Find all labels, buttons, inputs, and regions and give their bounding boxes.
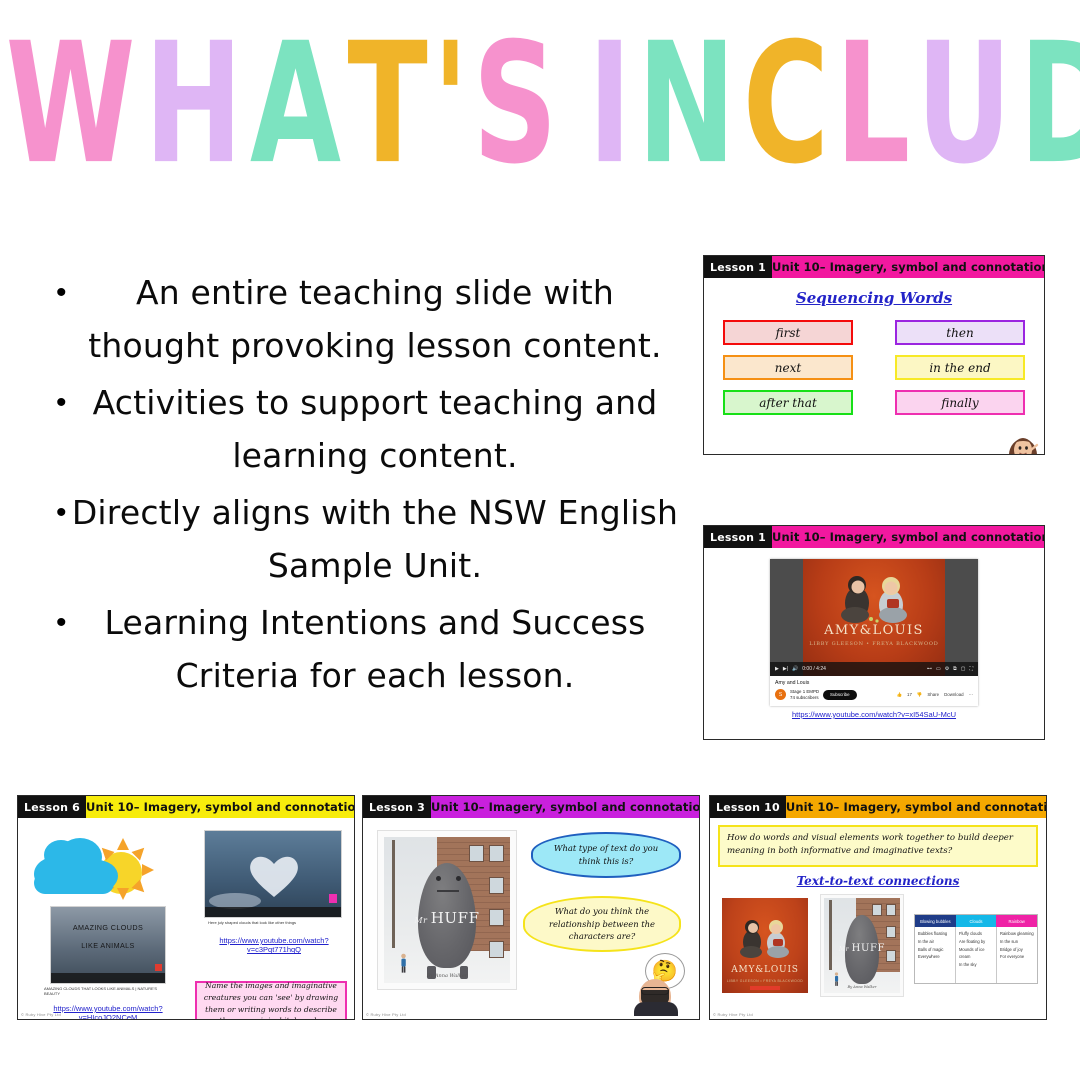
channel-subs: 74 subscribers [790, 695, 819, 701]
slide-watermark: © Ruby Hive Pty Ltd [366, 1012, 406, 1017]
slide-body: AMY&LOUIS LIBBY GLEESON • FREYA BLACKWOO… [704, 559, 1044, 740]
unit-title: Unit 10– Imagery, symbol and connotation [431, 796, 700, 818]
table-cell: For everyone [1000, 953, 1034, 961]
volume-icon[interactable]: 🔊 [792, 666, 798, 672]
video-time: 0:00 / 4:24 [802, 666, 826, 672]
feature-list-item-text: Directly aligns with the NSW English Sam… [68, 486, 682, 592]
channel-avatar: S [775, 689, 786, 700]
title-letter: L [835, 22, 909, 188]
table-cell: In the air [918, 938, 952, 946]
slide-watermark: © Ruby Hive Pty Ltd [713, 1012, 753, 1017]
subtitles-icon[interactable]: ▭ [936, 666, 941, 672]
book-cover-mr-huff-mini: Mr HUFF By Anna Walker [820, 894, 904, 997]
section-title: Text-to-text connections [710, 874, 1046, 888]
video-controls[interactable]: ▶ ▶| 🔊 0:00 / 4:24 ⊷ ▭ ⚙ ⧉ ▢ ⛶ [770, 662, 978, 676]
slide-header: Lesson 10 Unit 10– Imagery, symbol and c… [710, 796, 1046, 818]
youtube-embed[interactable]: AMY&LOUIS LIBBY GLEESON • FREYA BLACKWOO… [770, 559, 978, 706]
feature-list-item: •Learning Intentions and Success Criteri… [34, 596, 682, 702]
subscribe-button[interactable]: Subscribe [823, 690, 857, 700]
bullet-marker: • [34, 376, 68, 430]
slide-thumbnail-amy-and-louis-video[interactable]: Lesson 1 Unit 10– Imagery, symbol and co… [703, 525, 1045, 740]
title-letter: S [473, 22, 557, 188]
sequencing-word-chip[interactable]: first [723, 320, 853, 345]
play-icon[interactable]: ▶ [775, 666, 779, 672]
slide-body: Mr HUFF By Anna Walker What type of text… [363, 818, 699, 1019]
slide-body: AMAZING CLOUDS LIKE ANIMALS AMAZING CLOU… [18, 818, 354, 1019]
video-overlay-line-2: LIKE ANIMALS [51, 941, 165, 950]
unit-title: Unit 10– Imagery, symbol and connotation [772, 256, 1045, 278]
feature-list-item: •Directly aligns with the NSW English Sa… [34, 486, 682, 592]
slide-watermark: © Ruby Hive Pty Ltd [21, 1012, 61, 1017]
cover-title: Mr HUFF [824, 943, 900, 954]
feature-list-item: •An entire teaching slide with thought p… [34, 266, 682, 372]
dislike-icon[interactable]: 👎 [917, 692, 922, 698]
channel-info: Stage 1 EMPD 74 subscribers [790, 689, 819, 701]
title-letter: N [637, 22, 735, 188]
slide-header: Lesson 1 Unit 10– Imagery, symbol and co… [704, 526, 1044, 548]
download-button[interactable]: Download [944, 692, 964, 697]
title-letter: W [6, 22, 135, 188]
slide-body: Sequencing Words firstthennextin the end… [704, 289, 1044, 455]
book-cover-mr-huff: Mr HUFF By Anna Walker [377, 830, 517, 990]
cover-byline: By Anna Walker [824, 985, 900, 989]
theater-icon[interactable]: ▢ [961, 666, 966, 672]
essential-question-box: How do words and visual elements work to… [718, 825, 1038, 867]
miniplayer-icon[interactable]: ⧉ [953, 666, 957, 672]
children-illustration [722, 906, 808, 966]
video-metadata: Amy and Louis S Stage 1 EMPD 74 subscrib… [770, 676, 978, 706]
like-icon[interactable]: 👍 [897, 692, 902, 698]
cover-title: Mr HUFF [384, 909, 510, 927]
table-header-row: Blowing bubblesCloudsRainbow [915, 915, 1037, 927]
video-title: Amy and Louis [775, 680, 973, 686]
table-cell: Rainbow gleaming [1000, 930, 1034, 938]
slide-header: Lesson 1 Unit 10– Imagery, symbol and co… [704, 256, 1044, 278]
video-left-caption: AMAZING CLOUDS THAT LOOKS LIKE ANIMALS |… [44, 986, 172, 996]
sequencing-word-chip[interactable]: after that [723, 390, 853, 415]
bullet-marker: • [34, 486, 68, 540]
title-letter: A [250, 22, 340, 188]
speech-bubble-yellow: What do you think the relationship betwe… [523, 896, 681, 952]
next-icon[interactable]: ▶| [783, 666, 788, 672]
lesson-badge: Lesson 6 [18, 796, 86, 818]
book-cover-art: Mr HUFF By Anna Walker [824, 898, 900, 993]
feature-list-item-text: Activities to support teaching and learn… [68, 376, 682, 482]
table-column: Rainbow gleamingIn the sunBridge of joyF… [997, 927, 1037, 983]
heart-cloud-icon [205, 831, 341, 917]
feature-list-item-text: An entire teaching slide with thought pr… [68, 266, 682, 372]
sequencing-heading: Sequencing Words [704, 289, 1044, 307]
slide-thumbnail-text-to-text[interactable]: Lesson 10 Unit 10– Imagery, symbol and c… [709, 795, 1047, 1020]
video-screen[interactable]: AMAZING CLOUDS LIKE ANIMALS [51, 907, 165, 983]
title-letter: H [144, 22, 242, 188]
title-letter: ' [432, 22, 467, 188]
table-cell: Bubbles floating [918, 930, 952, 938]
slide-header: Lesson 3 Unit 10– Imagery, symbol and co… [363, 796, 699, 818]
table-header-cell: Rainbow [996, 915, 1037, 927]
title-letter: C [743, 22, 829, 188]
table-header-cell: Blowing bubbles [915, 915, 956, 927]
lesson-badge: Lesson 1 [704, 526, 772, 548]
cloud-and-sun-clipart [32, 830, 167, 900]
table-cell: Are floating by [959, 938, 993, 946]
video-thumbnail-heart-cloud[interactable] [204, 830, 342, 918]
video-screen[interactable] [205, 831, 341, 917]
boy-figure-icon [400, 952, 407, 974]
table-cell: Balls of magic [918, 946, 952, 954]
bullet-marker: • [34, 266, 68, 320]
slide-thumbnail-mr-huff[interactable]: Lesson 3 Unit 10– Imagery, symbol and co… [362, 795, 700, 1020]
task-instruction-box: Name the images and imaginative creature… [195, 981, 347, 1020]
book-cover-art: Mr HUFF By Anna Walker [384, 837, 510, 983]
table-cell: Bridge of joy [1000, 946, 1034, 954]
shirt-icon [634, 1002, 678, 1016]
sequencing-word-chip[interactable]: next [723, 355, 853, 380]
tree [829, 900, 832, 970]
cover-authors: LIBBY GLEESON • FREYA BLACKWOOD [803, 641, 945, 647]
more-icon[interactable]: ⋯ [969, 692, 973, 698]
cover-title: AMY&LOUIS [803, 623, 945, 638]
slide-header: Lesson 6 Unit 10– Imagery, symbol and co… [18, 796, 354, 818]
glasses-icon [641, 987, 669, 995]
slide-thumbnail-sequencing-words[interactable]: Lesson 1 Unit 10– Imagery, symbol and co… [703, 255, 1045, 455]
lesson-badge: Lesson 1 [704, 256, 772, 278]
table-column: Fluffy cloudsAre floating byMounds of ic… [956, 927, 997, 983]
autoplay-icon[interactable]: ⊷ [927, 666, 932, 672]
unit-title: Unit 10– Imagery, symbol and connotation [786, 796, 1047, 818]
thinking-person-avatar: 🤔 [633, 953, 685, 1015]
poster-canvas: WHAT'SINCLUDED •An entire teaching slide… [0, 0, 1080, 1080]
page-title: WHAT'SINCLUDED [0, 22, 1080, 150]
table-body: Bubbles floatingIn the airBalls of magic… [915, 927, 1037, 983]
video-thumbnail-amazing-clouds[interactable]: AMAZING CLOUDS LIKE ANIMALS [50, 906, 166, 984]
share-button[interactable]: Share [927, 692, 939, 697]
sequencing-word-grid: firstthennextin the endafter thatfinally [704, 307, 1044, 415]
lesson-badge: Lesson 10 [710, 796, 786, 818]
tree [392, 840, 395, 948]
video-player[interactable]: AMY&LOUIS LIBBY GLEESON • FREYA BLACKWOO… [770, 559, 978, 676]
book-cover-amy-and-louis-mini: AMY&LOUIS LIBBY GLEESON • FREYA BLACKWOO… [722, 898, 808, 993]
video-actions[interactable]: 👍 17 👎 Share Download ⋯ [897, 692, 973, 698]
table-cell: In the sky [959, 961, 993, 969]
table-cell: Fluffy clouds [959, 930, 993, 938]
sequencing-word-chip[interactable]: then [895, 320, 1025, 345]
feature-list-item-text: Learning Intentions and Success Criteria… [68, 596, 682, 702]
fullscreen-icon[interactable]: ⛶ [969, 666, 973, 672]
title-letter: U [916, 22, 1011, 188]
table-column: Bubbles floatingIn the airBalls of magic… [915, 927, 956, 983]
table-cell: In the sun [1000, 938, 1034, 946]
video-right-caption: Here july shaped clouds that look like o… [208, 920, 338, 925]
cover-title: AMY&LOUIS [722, 965, 808, 975]
sequencing-word-chip[interactable]: finally [895, 390, 1025, 415]
video-right-url[interactable]: https://www.youtube.com/watch?v=c3Pqt771… [208, 936, 340, 955]
title-letter: T [348, 22, 427, 188]
teacher-avatar-icon [1006, 419, 1040, 455]
table-cell: Everywhere [918, 953, 952, 961]
video-overlay-line-1: AMAZING CLOUDS [51, 923, 165, 932]
feature-list-item: •Activities to support teaching and lear… [34, 376, 682, 482]
table-cell: Mounds of ice cream [959, 946, 993, 962]
slide-body: How do words and visual elements work to… [710, 818, 1046, 1019]
cover-byline: By Anna Walker [384, 973, 510, 979]
bullet-marker: • [34, 596, 68, 650]
text-connections-table: Blowing bubblesCloudsRainbow Bubbles flo… [914, 914, 1038, 984]
lesson-badge: Lesson 3 [363, 796, 431, 818]
speech-bubble-blue: What type of text do you think this is? [531, 832, 681, 878]
unit-title: Unit 10– Imagery, symbol and connotation [772, 526, 1045, 548]
book-cover-amy-and-louis: AMY&LOUIS LIBBY GLEESON • FREYA BLACKWOO… [803, 559, 945, 676]
table-header-cell: Clouds [956, 915, 997, 927]
unit-title: Unit 10– Imagery, symbol and connotation [86, 796, 355, 818]
title-letter: D [1019, 22, 1080, 188]
sequencing-word-chip[interactable]: in the end [895, 355, 1025, 380]
settings-icon[interactable]: ⚙ [945, 666, 949, 672]
slide-thumbnail-clouds[interactable]: Lesson 6 Unit 10– Imagery, symbol and co… [17, 795, 355, 1020]
channel-row: S Stage 1 EMPD 74 subscribers Subscribe … [775, 689, 973, 701]
feature-list: •An entire teaching slide with thought p… [34, 266, 682, 706]
like-count: 17 [907, 692, 912, 697]
video-url-link[interactable]: https://www.youtube.com/watch?v=xI54SaU-… [704, 710, 1044, 719]
title-letter: I [588, 22, 631, 188]
